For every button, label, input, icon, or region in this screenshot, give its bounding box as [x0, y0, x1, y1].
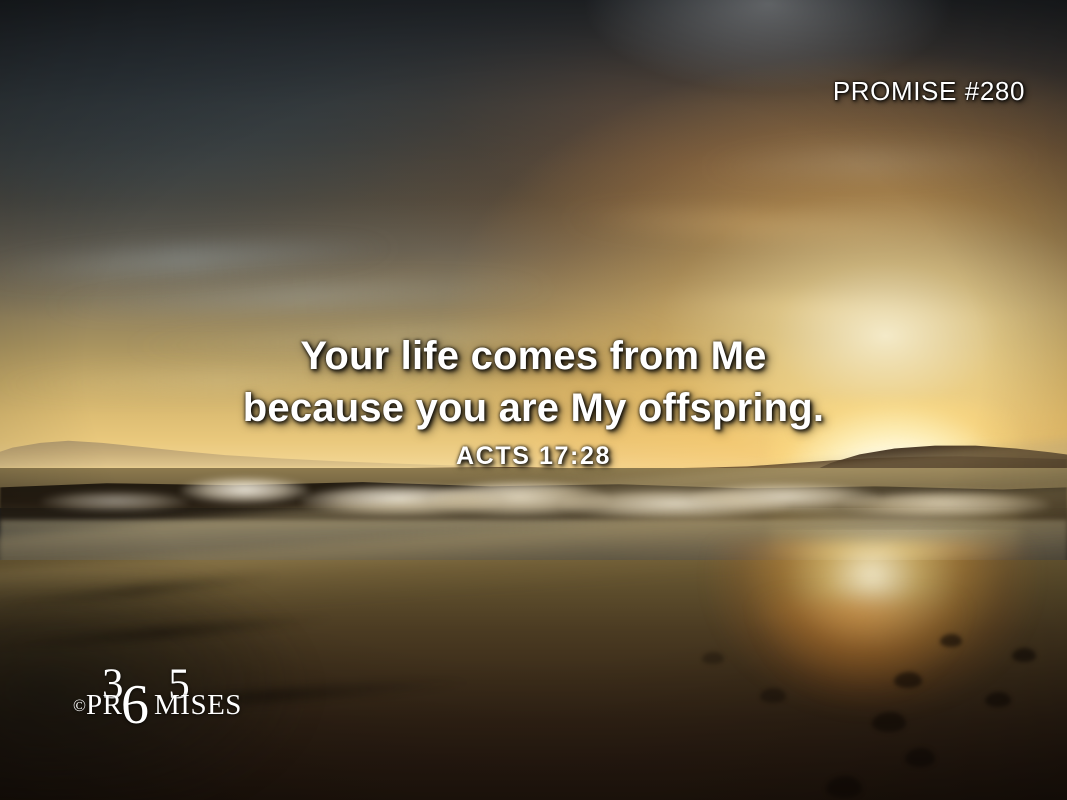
promise-image-canvas: PROMISE #280 Your life comes from Me bec…	[0, 0, 1067, 800]
logo-word-prefix: PR	[86, 691, 122, 720]
verse-block: Your life comes from Me because you are …	[0, 330, 1067, 471]
verse-line-1: Your life comes from Me	[0, 330, 1067, 382]
verse-reference: ACTS 17:28	[0, 442, 1067, 471]
logo-word-suffix: MISES	[154, 691, 242, 720]
copyright-icon: ©	[73, 697, 86, 714]
logo-six-glyph: 6	[121, 677, 149, 733]
promise-number-label: PROMISE #280	[833, 76, 1025, 107]
verse-line-2: because you are My offspring.	[0, 382, 1067, 434]
brand-logo-365-promises: 3 5 © PR 6 MISES	[72, 665, 252, 735]
